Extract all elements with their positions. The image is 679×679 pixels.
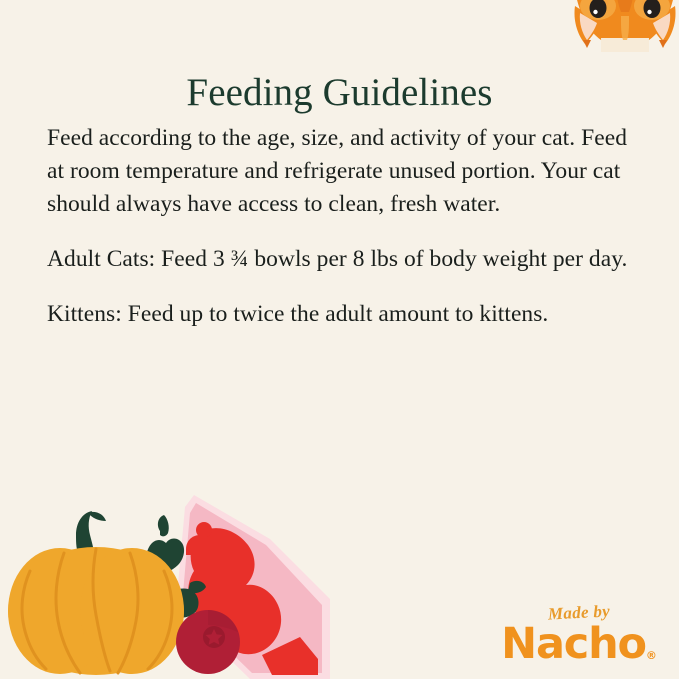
paragraph-adult-cats: Adult Cats: Feed 3 ¾ bowls per 8 lbs of …	[47, 243, 633, 276]
brand-logo: Made by Nacho®	[497, 603, 661, 665]
berry-shape	[176, 610, 240, 674]
feeding-guidelines-panel: Feeding Guidelines Feed according to the…	[0, 0, 679, 679]
meat-cut-shape	[176, 495, 330, 679]
page-title: Feeding Guidelines	[0, 69, 679, 117]
feeding-instructions: Feed according to the age, size, and act…	[47, 122, 633, 331]
brand-name-text: Nacho	[501, 619, 646, 669]
paragraph-kittens: Kittens: Feed up to twice the adult amou…	[47, 298, 633, 331]
pumpkin-shape	[8, 511, 184, 675]
food-ingredients-illustration	[0, 487, 330, 679]
registered-trademark-icon: ®	[646, 649, 657, 662]
parsley-herb-shape	[116, 515, 206, 622]
cat-face-icon	[571, 0, 679, 52]
paragraph-general-feeding: Feed according to the age, size, and act…	[47, 122, 633, 221]
brand-wordmark: Nacho®	[497, 621, 661, 678]
